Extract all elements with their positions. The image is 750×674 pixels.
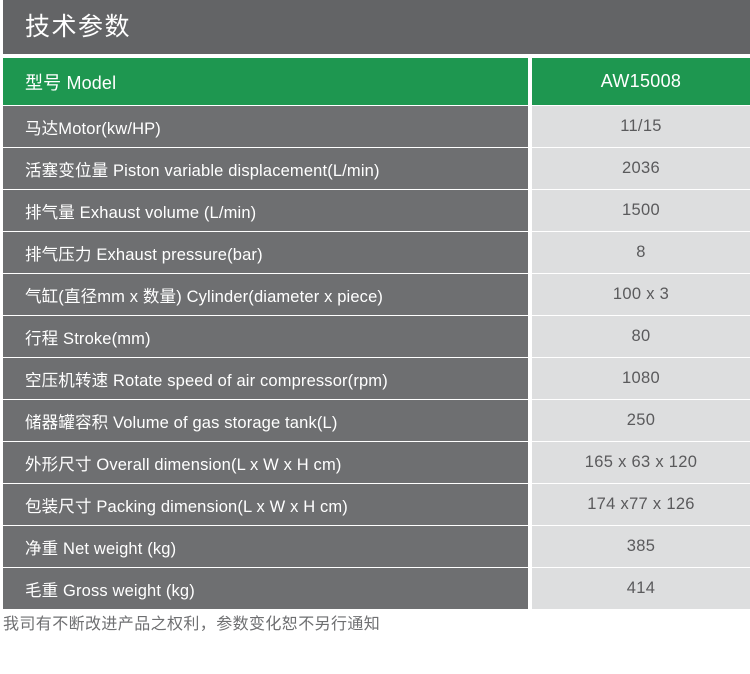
technical-parameters-table: 型号 Model AW15008 马达Motor(kw/HP)11/15活塞变位…	[3, 58, 750, 610]
table-header-row: 型号 Model AW15008	[3, 58, 750, 105]
spec-sheet-page: 技术参数 型号 Model AW15008 马达Motor(kw/HP)11/1…	[0, 0, 750, 674]
row-label-cell: 毛重 Gross weight (kg)	[3, 568, 528, 609]
table-row: 毛重 Gross weight (kg)414	[3, 568, 750, 609]
row-value-cell: 100 x 3	[532, 274, 750, 315]
row-value-cell: 80	[532, 316, 750, 357]
row-label-cell: 气缸(直径mm x 数量) Cylinder(diameter x piece)	[3, 274, 528, 315]
table-row: 净重 Net weight (kg)385	[3, 526, 750, 567]
row-value-cell: 1500	[532, 190, 750, 231]
footer-disclaimer: 我司有不断改进产品之权利，参数变化恕不另行通知	[3, 610, 750, 634]
row-label-cell: 马达Motor(kw/HP)	[3, 106, 528, 147]
row-value-cell: 165 x 63 x 120	[532, 442, 750, 483]
row-label-cell: 行程 Stroke(mm)	[3, 316, 528, 357]
table-row: 空压机转速 Rotate speed of air compressor(rpm…	[3, 358, 750, 399]
header-value-cell: AW15008	[532, 58, 750, 105]
row-value-cell: 385	[532, 526, 750, 567]
page-title-bar: 技术参数	[3, 0, 750, 54]
row-label-cell: 空压机转速 Rotate speed of air compressor(rpm…	[3, 358, 528, 399]
row-value-cell: 174 x77 x 126	[532, 484, 750, 525]
row-label-cell: 净重 Net weight (kg)	[3, 526, 528, 567]
row-value-cell: 1080	[532, 358, 750, 399]
page-title: 技术参数	[3, 15, 131, 40]
table-row: 排气压力 Exhaust pressure(bar)8	[3, 232, 750, 273]
row-value-cell: 8	[532, 232, 750, 273]
row-label-cell: 包装尺寸 Packing dimension(L x W x H cm)	[3, 484, 528, 525]
row-label-cell: 活塞变位量 Piston variable displacement(L/min…	[3, 148, 528, 189]
row-label-cell: 排气量 Exhaust volume (L/min)	[3, 190, 528, 231]
table-row: 活塞变位量 Piston variable displacement(L/min…	[3, 148, 750, 189]
row-value-cell: 414	[532, 568, 750, 609]
row-value-cell: 2036	[532, 148, 750, 189]
table-row: 排气量 Exhaust volume (L/min)1500	[3, 190, 750, 231]
table-row: 马达Motor(kw/HP)11/15	[3, 106, 750, 147]
table-row: 行程 Stroke(mm)80	[3, 316, 750, 357]
table-row: 外形尺寸 Overall dimension(L x W x H cm)165 …	[3, 442, 750, 483]
table-row: 储器罐容积 Volume of gas storage tank(L)250	[3, 400, 750, 441]
row-label-cell: 排气压力 Exhaust pressure(bar)	[3, 232, 528, 273]
header-label-cell: 型号 Model	[3, 58, 528, 105]
row-label-cell: 储器罐容积 Volume of gas storage tank(L)	[3, 400, 528, 441]
table-row: 包装尺寸 Packing dimension(L x W x H cm)174 …	[3, 484, 750, 525]
table-row: 气缸(直径mm x 数量) Cylinder(diameter x piece)…	[3, 274, 750, 315]
row-value-cell: 250	[532, 400, 750, 441]
row-label-cell: 外形尺寸 Overall dimension(L x W x H cm)	[3, 442, 528, 483]
row-value-cell: 11/15	[532, 106, 750, 147]
